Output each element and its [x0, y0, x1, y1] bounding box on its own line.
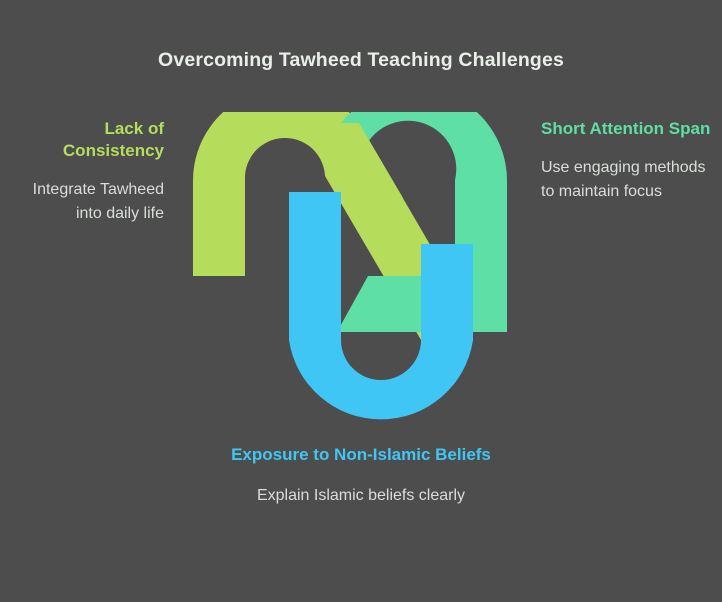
challenge-heading: Lack of Consistency	[14, 118, 164, 162]
challenge-body: Integrate Tawheed into daily life	[14, 178, 164, 226]
challenge-block-lack-of-consistency: Lack of Consistency Integrate Tawheed in…	[14, 118, 164, 226]
trefoil-logo	[185, 112, 515, 424]
infographic-canvas: Overcoming Tawheed Teaching Challenges	[0, 0, 722, 602]
challenge-body: Use engaging methods to maintain focus	[541, 156, 713, 204]
page-title: Overcoming Tawheed Teaching Challenges	[0, 47, 722, 73]
challenge-block-short-attention-span: Short Attention Span Use engaging method…	[541, 118, 713, 204]
challenge-heading: Exposure to Non-Islamic Beliefs	[231, 444, 491, 466]
challenge-body: Explain Islamic beliefs clearly	[231, 484, 491, 508]
challenge-block-exposure-to-non-islamic-beliefs: Exposure to Non-Islamic Beliefs Explain …	[231, 444, 491, 508]
challenge-heading: Short Attention Span	[541, 118, 713, 140]
